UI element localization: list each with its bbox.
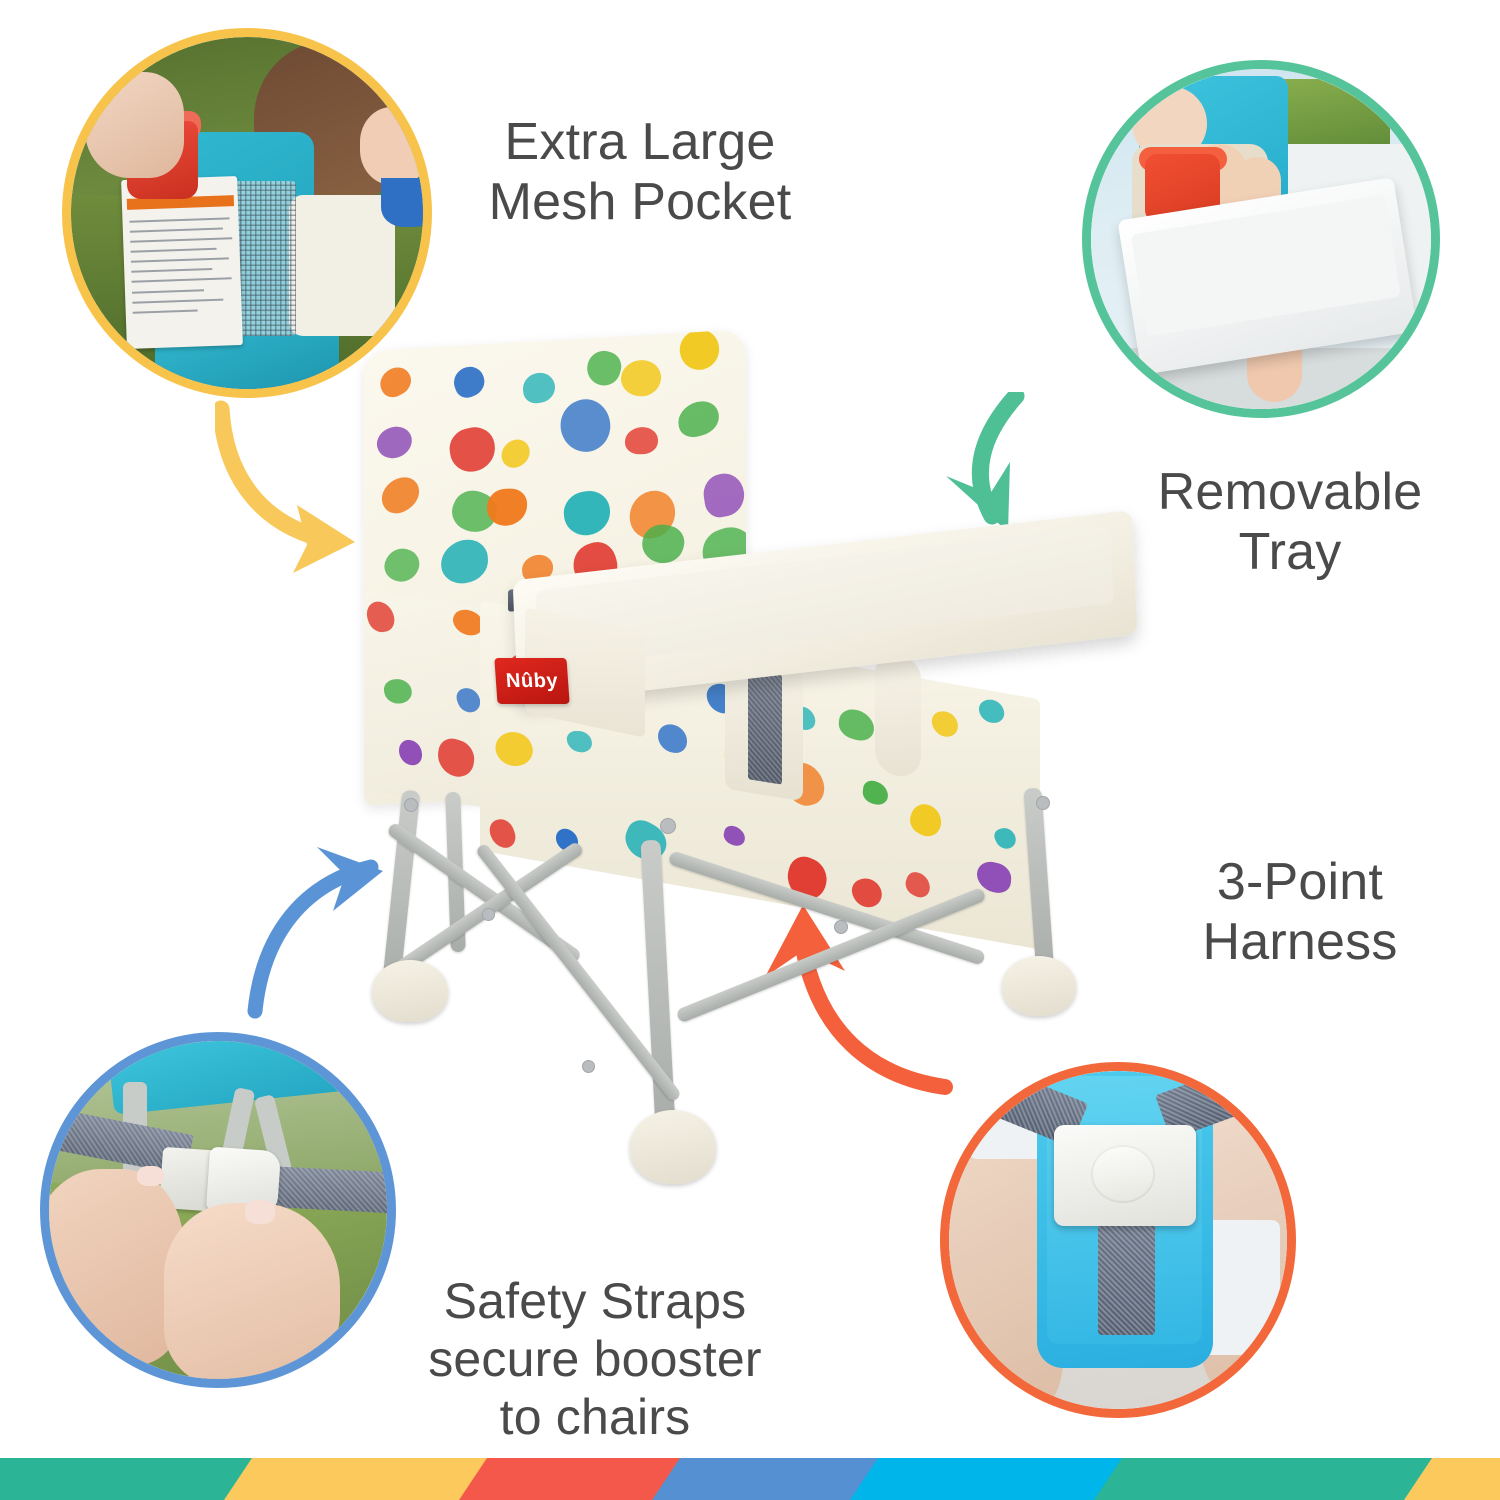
fabric-dot — [675, 397, 722, 441]
fabric-dot — [562, 488, 611, 538]
fabric-dot — [486, 817, 520, 850]
fabric-dot — [381, 677, 414, 705]
fabric-dot — [677, 329, 723, 374]
fabric-dot — [617, 356, 666, 400]
fabric-dot — [373, 422, 415, 462]
fabric-dot — [565, 731, 593, 753]
product-booster-seat: Nûby — [330, 320, 1210, 1220]
fabric-dot — [929, 710, 961, 738]
fabric-dot — [379, 543, 424, 587]
foot-front-left — [372, 960, 448, 1022]
fabric-dot — [624, 427, 658, 455]
callout-label-mesh-pocket: Extra Large Mesh Pocket — [420, 112, 860, 233]
fabric-dot — [447, 424, 498, 477]
fabric-dot — [486, 488, 527, 526]
frame-rivet — [404, 798, 418, 812]
frame-rivet — [582, 1060, 595, 1073]
fabric-dot — [847, 874, 886, 910]
fabric-dot — [991, 825, 1019, 851]
callout-label-safety-straps: Safety Straps secure booster to chairs — [360, 1272, 830, 1446]
fabric-dot — [364, 600, 397, 633]
fabric-dot — [454, 686, 484, 714]
fabric-dot — [436, 735, 477, 781]
crotch-post — [875, 653, 921, 779]
fabric-dot — [450, 362, 489, 401]
fabric-dot — [398, 739, 422, 767]
fabric-dot — [490, 728, 539, 771]
fabric-dot — [375, 471, 425, 520]
infographic-canvas: Extra Large Mesh Pocket Removable Tray 3… — [0, 0, 1500, 1500]
fabric-dot — [658, 722, 687, 755]
fabric-dot — [583, 347, 625, 388]
fabric-dot — [496, 435, 533, 472]
frame-rivet — [834, 920, 848, 934]
fabric-dot — [554, 392, 618, 460]
fabric-dot — [903, 868, 933, 901]
fabric-dot — [439, 537, 490, 587]
fabric-dot — [862, 778, 890, 807]
fabric-dot — [838, 705, 877, 744]
foot-rear-right — [1002, 956, 1076, 1016]
fabric-dot — [976, 698, 1007, 725]
footer-color-segment — [1094, 1458, 1460, 1500]
frame-rivet — [660, 818, 676, 834]
fabric-dot — [722, 823, 747, 849]
fabric-dot — [906, 799, 945, 843]
foot-front-center — [630, 1110, 716, 1184]
footer-color-bar — [0, 1458, 1500, 1500]
frame-rivet — [482, 908, 495, 921]
brand-label: Nûby — [494, 658, 569, 704]
frame-rivet — [1036, 796, 1050, 810]
harness-webbing — [748, 669, 782, 784]
fabric-dot — [375, 362, 415, 402]
fabric-dot — [701, 470, 746, 520]
fabric-dot — [521, 371, 555, 405]
